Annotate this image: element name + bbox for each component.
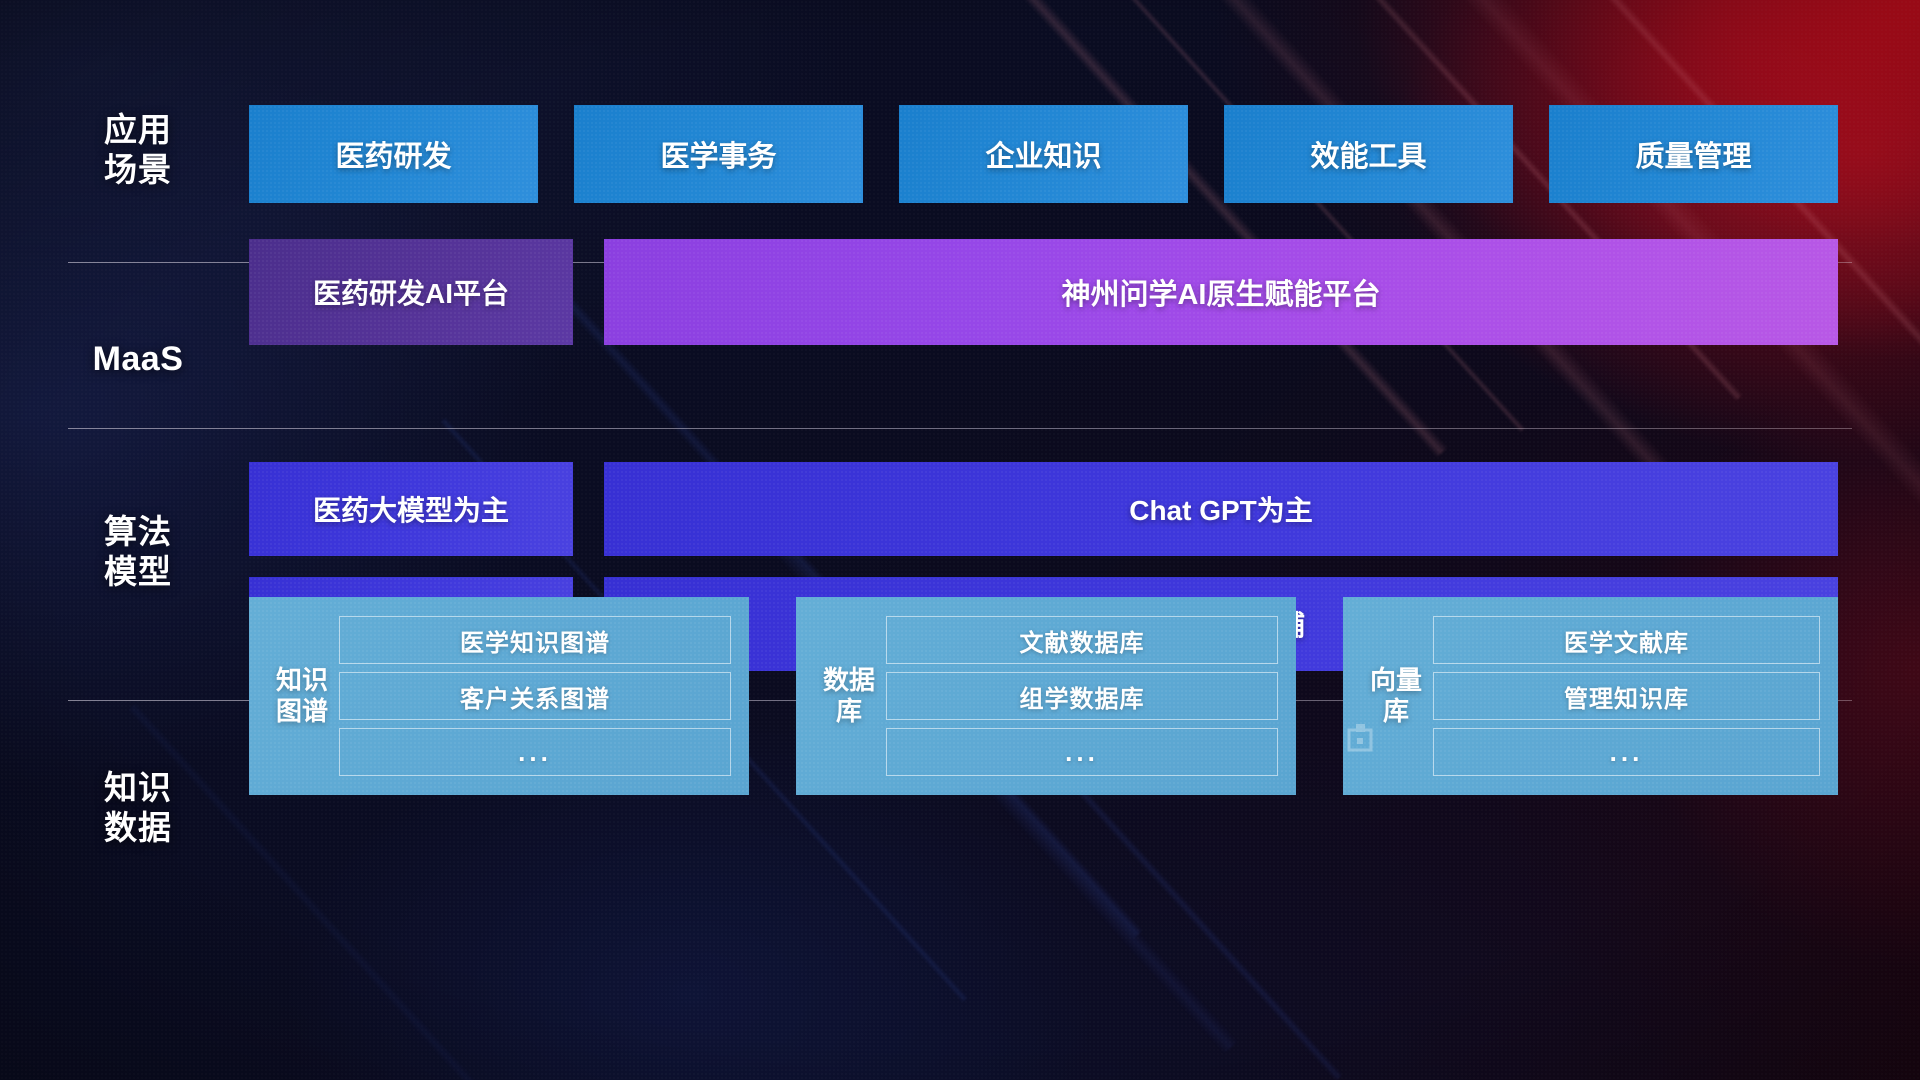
row-label-text: MaaS	[68, 339, 208, 380]
algorithm-card-row0-left[interactable]: 医药大模型为主	[249, 462, 573, 556]
row-label-application-scenarios: 应用 场景	[68, 110, 208, 191]
knowledge-group-items: 医学文献库 管理知识库 ...	[1427, 616, 1838, 776]
knowledge-item[interactable]: 文献数据库	[886, 616, 1278, 664]
algorithm-label: Chat GPT为主	[1129, 489, 1313, 529]
app-scenario-label: 医学事务	[660, 133, 776, 175]
algorithm-label: 医药大模型为主	[313, 489, 509, 529]
app-scenario-card-2[interactable]: 企业知识	[899, 105, 1188, 203]
knowledge-group-items: 医学知识图谱 客户关系图谱 ...	[333, 616, 749, 776]
row-label-line-1: 知识	[68, 768, 208, 808]
knowledge-item-label: 管理知识库	[1564, 679, 1689, 714]
app-scenario-card-0[interactable]: 医药研发	[249, 105, 538, 203]
divider-after-maas	[68, 428, 1852, 429]
app-scenario-label: 医药研发	[335, 133, 451, 175]
algorithm-card-row0-right[interactable]: Chat GPT为主	[604, 462, 1838, 556]
knowledge-item-label: 组学数据库	[1020, 679, 1145, 714]
maas-platform-card-left[interactable]: 医药研发AI平台	[249, 239, 573, 345]
maas-platform-label: 医药研发AI平台	[313, 272, 509, 312]
row-label-maas: MaaS	[68, 339, 208, 380]
app-scenario-label: 质量管理	[1635, 133, 1751, 175]
knowledge-item-label: 医学知识图谱	[460, 623, 610, 658]
app-scenario-card-4[interactable]: 质量管理	[1549, 105, 1838, 203]
knowledge-item[interactable]: 组学数据库	[886, 672, 1278, 720]
row-label-knowledge-data: 知识 数据	[68, 768, 208, 849]
row-label-line-1: 算法	[68, 512, 208, 552]
knowledge-group-title: 知识图谱	[271, 665, 333, 726]
row-label-line-2: 模型	[68, 552, 208, 592]
maas-platform-card-right[interactable]: 神州问学AI原生赋能平台	[604, 239, 1838, 345]
knowledge-item[interactable]: 管理知识库	[1433, 672, 1820, 720]
knowledge-item-label: 医学文献库	[1564, 623, 1689, 658]
knowledge-group-2[interactable]: 向量库 医学文献库 管理知识库 ...	[1343, 597, 1838, 795]
row-label-line-2: 场景	[68, 150, 208, 190]
knowledge-group-items: 文献数据库 组学数据库 ...	[880, 616, 1296, 776]
knowledge-item[interactable]: 医学文献库	[1433, 616, 1820, 664]
app-scenario-card-3[interactable]: 效能工具	[1224, 105, 1513, 203]
app-scenario-card-1[interactable]: 医学事务	[574, 105, 863, 203]
row-label-line-1: 应用	[68, 110, 208, 150]
knowledge-item-more[interactable]: ...	[339, 728, 731, 776]
knowledge-item-label: 文献数据库	[1020, 623, 1145, 658]
app-scenario-label: 效能工具	[1310, 133, 1426, 175]
knowledge-item-more[interactable]: ...	[1433, 728, 1820, 776]
knowledge-group-1[interactable]: 数据库 文献数据库 组学数据库 ...	[796, 597, 1296, 795]
row-label-algorithm-model: 算法 模型	[68, 512, 208, 593]
knowledge-item-label: ...	[1610, 737, 1644, 768]
maas-platform-label: 神州问学AI原生赋能平台	[1061, 271, 1380, 313]
knowledge-item[interactable]: 客户关系图谱	[339, 672, 731, 720]
knowledge-item-label: ...	[518, 737, 552, 768]
knowledge-group-title: 向量库	[1365, 665, 1427, 726]
row-label-line-2: 数据	[68, 808, 208, 848]
knowledge-item-more[interactable]: ...	[886, 728, 1278, 776]
knowledge-item-label: 客户关系图谱	[460, 679, 610, 714]
knowledge-group-title: 数据库	[818, 665, 880, 726]
app-scenario-label: 企业知识	[985, 133, 1101, 175]
knowledge-item-label: ...	[1065, 737, 1099, 768]
diagram-canvas: 应用 场景 医药研发 医学事务 企业知识 效能工具 质量管理 MaaS 医药研发…	[0, 0, 1920, 1080]
knowledge-item[interactable]: 医学知识图谱	[339, 616, 731, 664]
knowledge-group-0[interactable]: 知识图谱 医学知识图谱 客户关系图谱 ...	[249, 597, 749, 795]
